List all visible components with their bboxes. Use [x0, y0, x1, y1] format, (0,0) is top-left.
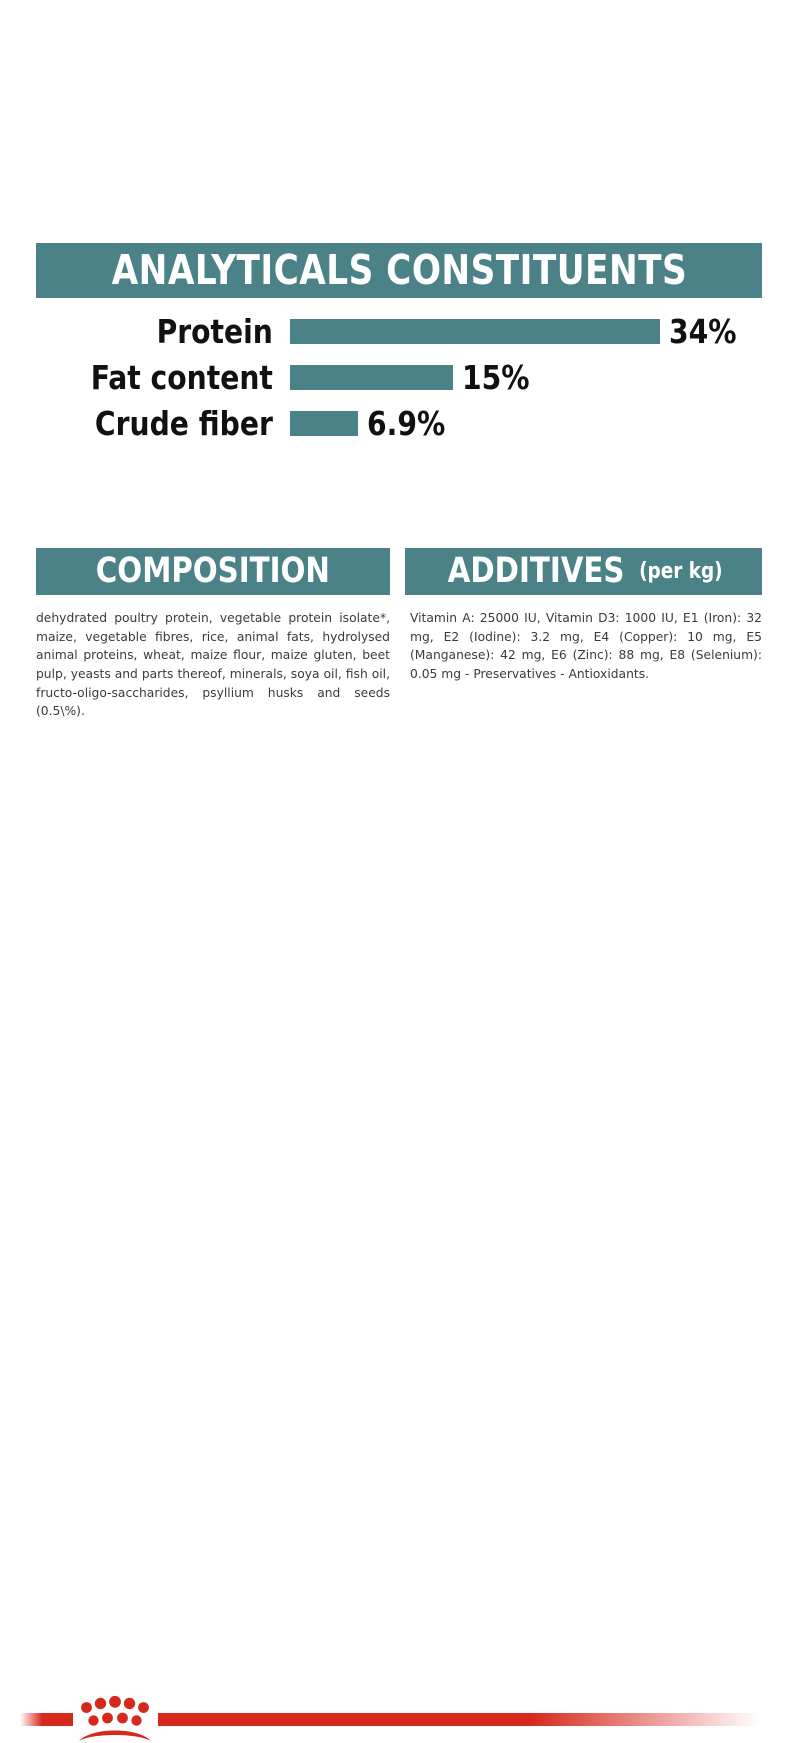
additives-panel: ADDITIVES (per kg) Vitamin A: 25000 IU, …	[405, 548, 762, 733]
composition-banner-title: COMPOSITION	[96, 554, 330, 589]
composition-body-text: dehydrated poultry protein, vegetable pr…	[36, 609, 390, 721]
analyticals-constituents-section: ANALYTICALS CONSTITUENTS Protein 34% Fat…	[36, 243, 762, 450]
bar-track-crude-fiber: 6.9%	[290, 407, 762, 440]
bar-label-crude-fiber: Crude fiber	[49, 407, 290, 440]
detail-panels: COMPOSITION dehydrated poultry protein, …	[36, 548, 762, 733]
bar-row: Protein 34%	[36, 312, 762, 350]
composition-banner: COMPOSITION	[36, 548, 390, 595]
bar-value-fat-content: 15%	[462, 361, 530, 394]
bar-row: Fat content 15%	[36, 358, 762, 396]
analyticals-bar-chart: Protein 34% Fat content 15% Crude fiber …	[36, 312, 762, 442]
footer-brand-bar	[0, 845, 800, 905]
bar-value-protein: 34%	[669, 315, 737, 348]
additives-banner-title: ADDITIVES	[448, 554, 625, 589]
bar-track-fat-content: 15%	[290, 361, 762, 394]
royal-canin-crown-icon	[74, 1693, 156, 1743]
analyticals-banner: ANALYTICALS CONSTITUENTS	[36, 243, 762, 298]
additives-banner: ADDITIVES (per kg)	[405, 548, 762, 595]
bar-label-fat-content: Fat content	[49, 361, 290, 394]
additives-banner-suffix: (per kg)	[639, 561, 722, 583]
bar-row: Crude fiber 6.9%	[36, 404, 762, 442]
bar-fill-crude-fiber	[290, 411, 358, 436]
footer-rule-right	[158, 1713, 760, 1726]
footer-rule-left	[20, 1713, 73, 1726]
bar-value-crude-fiber: 6.9%	[367, 407, 445, 440]
additives-body-text: Vitamin A: 25000 IU, Vitamin D3: 1000 IU…	[405, 609, 762, 684]
bar-fill-protein	[290, 319, 660, 344]
bar-track-protein: 34%	[290, 315, 762, 348]
bar-fill-fat-content	[290, 365, 453, 390]
composition-panel: COMPOSITION dehydrated poultry protein, …	[36, 548, 390, 733]
analyticals-banner-title: ANALYTICALS CONSTITUENTS	[111, 250, 687, 291]
bar-label-protein: Protein	[49, 315, 290, 348]
